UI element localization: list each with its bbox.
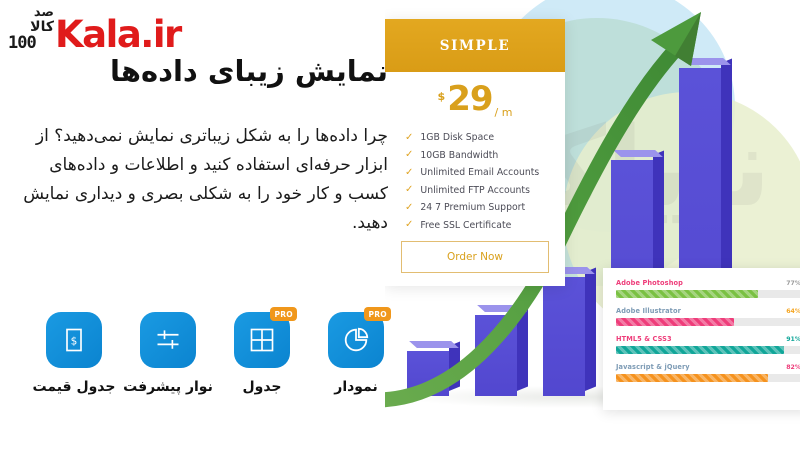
list-item: ✓ 1GB Disk Space <box>405 129 565 147</box>
price-period: / m <box>495 106 513 119</box>
plan-feature-list: ✓ 1GB Disk Space ✓ 10GB Bandwidth ✓ Unli… <box>385 126 565 234</box>
progress-row: Adobe Photoshop 77% <box>616 279 800 298</box>
chart-bar <box>407 346 449 396</box>
progress-fill <box>616 374 768 382</box>
logo-mark-number: 100 <box>8 35 54 52</box>
progress-fill <box>616 318 734 326</box>
list-item: ✓ Free SSL Certificate <box>405 217 565 235</box>
progress-label: Adobe Illustrator <box>616 307 681 315</box>
progress-track <box>616 290 800 298</box>
progress-track <box>616 374 800 382</box>
check-icon: ✓ <box>405 150 413 160</box>
feature-item-chart[interactable]: PRO نمودار <box>320 312 392 432</box>
skills-progress-panel: Adobe Photoshop 77% Adobe Illustrator 64… <box>603 268 800 410</box>
progress-row: Adobe Illustrator 64% <box>616 307 800 326</box>
feature-item-table[interactable]: PRO جدول <box>226 312 298 432</box>
feature-label: نوار پیشرفت <box>123 379 213 395</box>
check-icon: ✓ <box>405 220 413 230</box>
list-item: ✓ 24 7 Premium Support <box>405 199 565 217</box>
plan-feature-label: Free SSL Certificate <box>420 220 511 231</box>
progress-row: HTML5 & CSS3 91% <box>616 335 800 354</box>
table-grid-icon <box>248 326 276 354</box>
progress-label: Adobe Photoshop <box>616 279 683 287</box>
feature-tile[interactable]: $ <box>46 312 102 368</box>
progress-percent: 82% <box>786 364 800 371</box>
progress-percent: 64% <box>786 308 800 315</box>
plan-price: $ 29 / m <box>385 72 565 126</box>
body-paragraph: چرا داده‌ها را به شکل زیباتری نمایش نمی‌… <box>16 122 388 238</box>
list-item: ✓ Unlimited FTP Accounts <box>405 182 565 200</box>
price-amount: 29 <box>447 82 492 116</box>
plan-feature-label: 24 7 Premium Support <box>420 202 525 213</box>
plan-feature-label: Unlimited Email Accounts <box>420 167 539 178</box>
order-now-button[interactable]: Order Now <box>401 241 549 273</box>
price-currency: $ <box>438 90 446 103</box>
check-icon: ✓ <box>405 168 413 178</box>
progress-label: HTML5 & CSS3 <box>616 335 672 343</box>
text-column: صد کالا 100 Kala.ir نمایش زیبای داده‌ها … <box>0 0 400 450</box>
progress-percent: 77% <box>786 280 800 287</box>
svg-text:$: $ <box>71 335 78 347</box>
feature-tile[interactable]: PRO <box>234 312 290 368</box>
pro-badge: PRO <box>364 307 391 321</box>
logo-wordmark: Kala.ir <box>55 16 181 53</box>
pro-badge: PRO <box>270 307 297 321</box>
feature-icon-row: PRO نمودار PRO جدول <box>0 312 400 432</box>
feature-label: نمودار <box>334 379 377 395</box>
plan-feature-label: Unlimited FTP Accounts <box>420 185 530 196</box>
sliders-icon <box>154 326 182 354</box>
brand-logo[interactable]: صد کالا 100 Kala.ir <box>8 6 181 54</box>
feature-label: جدول <box>242 379 281 395</box>
list-item: ✓ Unlimited Email Accounts <box>405 164 565 182</box>
progress-percent: 91% <box>786 336 800 343</box>
logo-mark-icon: صد کالا 100 <box>8 6 54 54</box>
pie-chart-icon <box>341 325 371 355</box>
plan-feature-label: 10GB Bandwidth <box>420 150 498 161</box>
price-tag-icon: $ <box>60 326 88 354</box>
check-icon: ✓ <box>405 185 413 195</box>
progress-fill <box>616 346 784 354</box>
plan-title: SIMPLE <box>440 38 511 54</box>
list-item: ✓ 10GB Bandwidth <box>405 147 565 165</box>
feature-tile[interactable] <box>140 312 196 368</box>
promo-banner: نایاکالا <box>0 0 800 450</box>
progress-label: Javascript & jQuery <box>616 363 690 371</box>
logo-mark-top: صد <box>8 6 54 20</box>
chart-bar <box>475 310 517 396</box>
feature-label: جدول قیمت <box>33 379 116 395</box>
progress-track <box>616 318 800 326</box>
progress-row: Javascript & jQuery 82% <box>616 363 800 382</box>
progress-track <box>616 346 800 354</box>
pricing-card-header: SIMPLE <box>385 19 565 72</box>
feature-item-progress[interactable]: نوار پیشرفت <box>132 312 204 432</box>
feature-tile[interactable]: PRO <box>328 312 384 368</box>
plan-feature-label: 1GB Disk Space <box>420 132 494 143</box>
feature-item-price-table[interactable]: $ جدول قیمت <box>38 312 110 432</box>
chart-bar <box>543 272 585 396</box>
pricing-card: SIMPLE $ 29 / m ✓ 1GB Disk Space ✓ 10GB … <box>385 19 565 286</box>
check-icon: ✓ <box>405 203 413 213</box>
check-icon: ✓ <box>405 133 413 143</box>
graphic-panel: نایاکالا <box>385 0 800 450</box>
page-title: نمایش زیبای داده‌ها <box>8 52 388 90</box>
progress-fill <box>616 290 758 298</box>
